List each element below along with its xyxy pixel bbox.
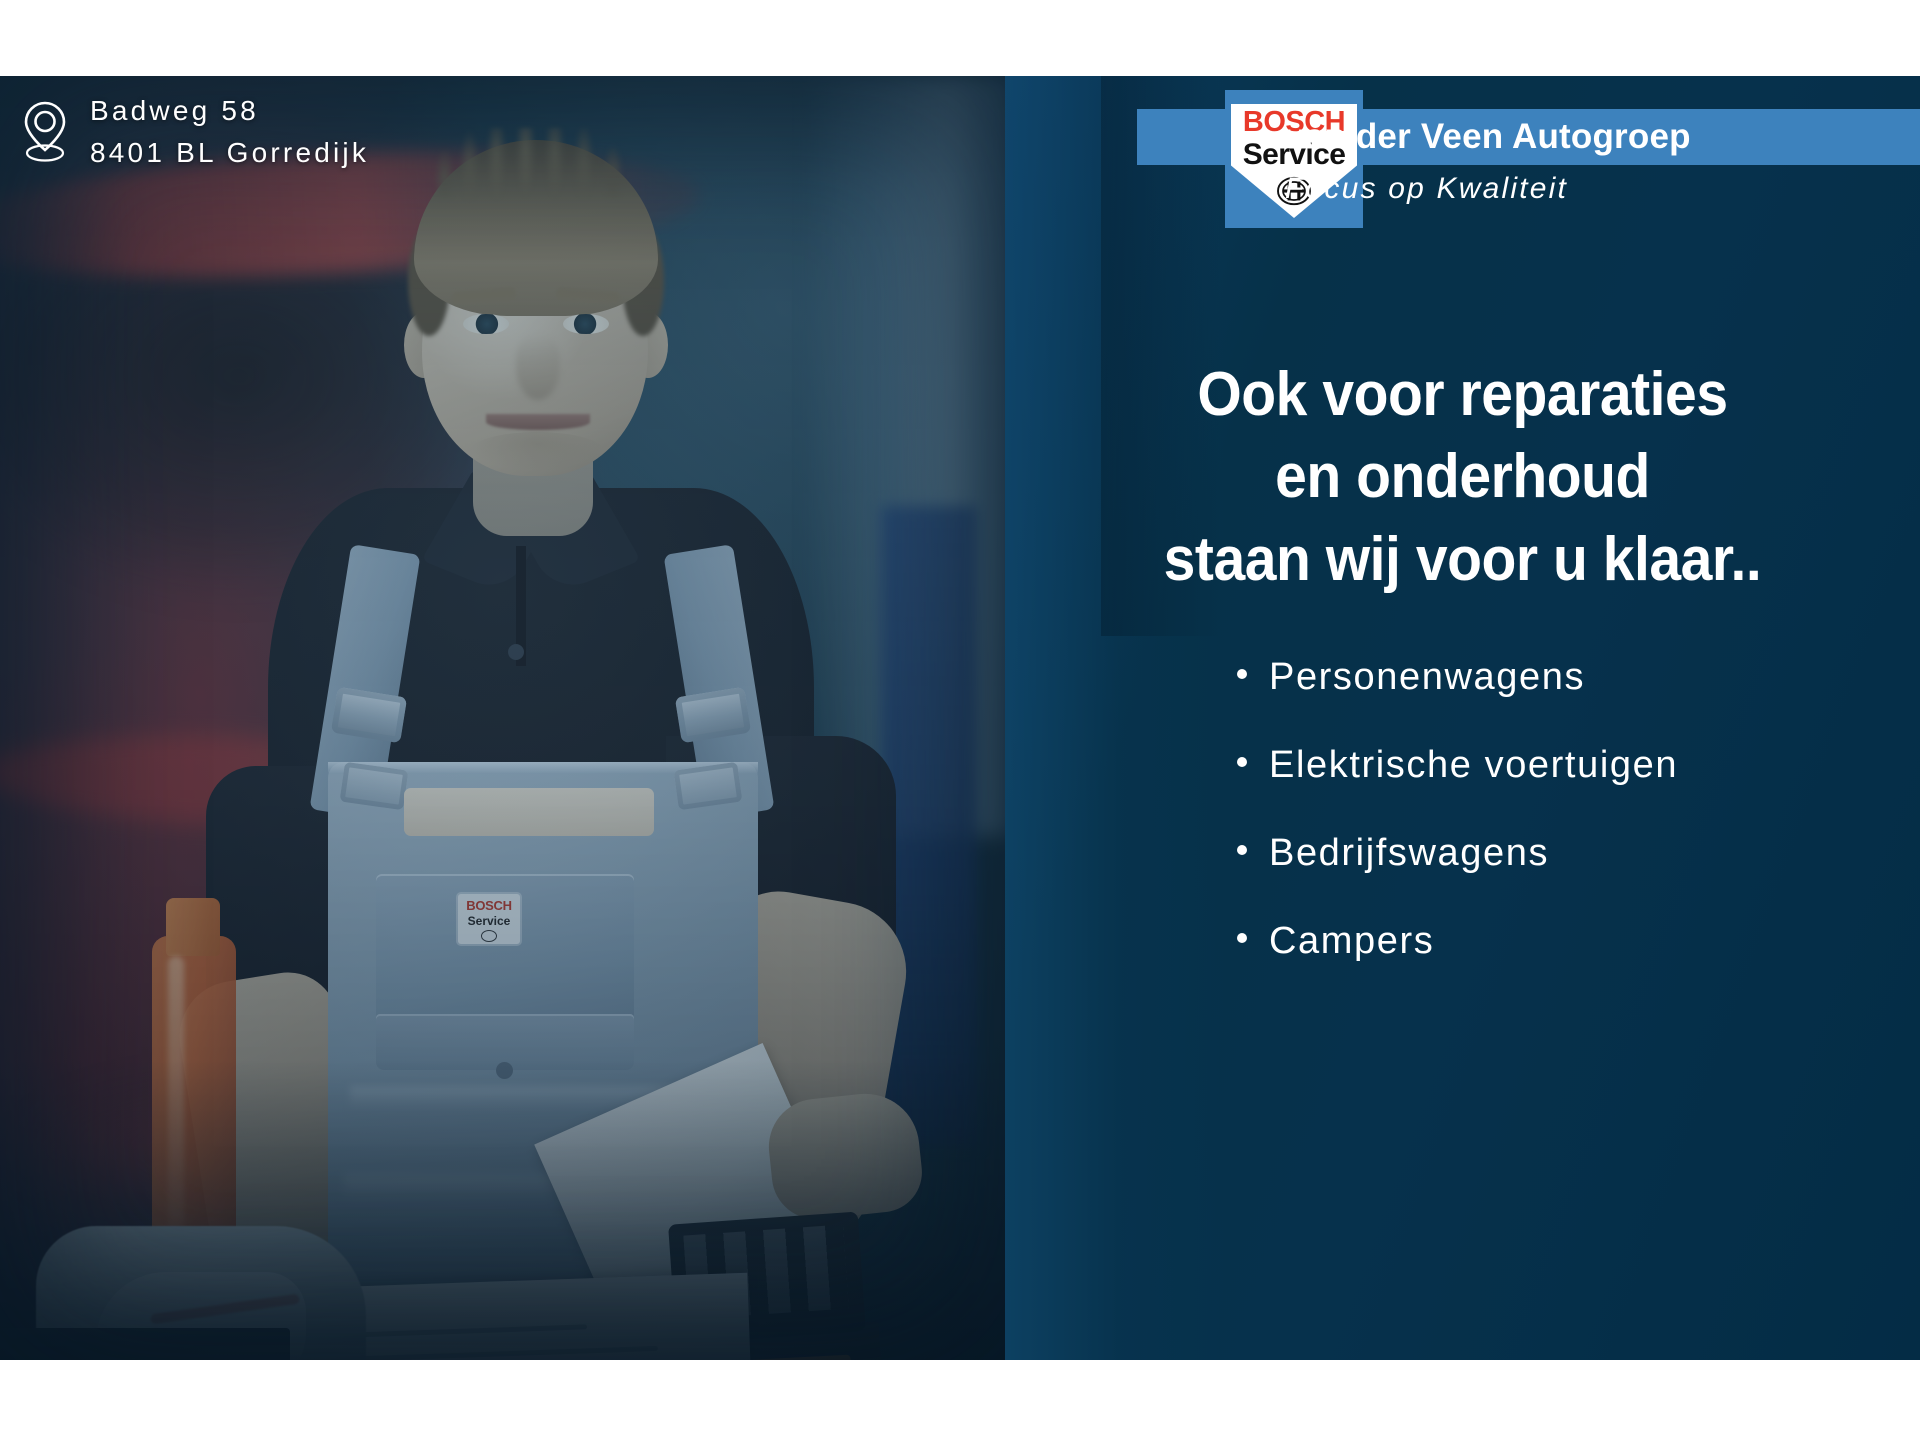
photo-vignette (0, 76, 1005, 1360)
list-item: Elektrische voertuigen (1005, 744, 1920, 787)
info-panel: BOSCH Service van der Veen Autogroep Foc… (1005, 76, 1920, 1360)
list-item: Bedrijfswagens (1005, 832, 1920, 875)
map-pin-icon (22, 101, 68, 163)
brand-header: BOSCH Service van der Veen Autogroep Foc… (1005, 76, 1920, 216)
service-label: Bedrijfswagens (1269, 832, 1549, 875)
advertisement-slide: BOSCH Service (0, 0, 1920, 1440)
mechanic-photo: BOSCH Service (0, 76, 1005, 1360)
list-item: Personenwagens (1005, 656, 1920, 699)
services-list: Personenwagens Elektrische voertuigen Be… (1005, 656, 1920, 1008)
service-label: Campers (1269, 920, 1434, 963)
address-overlay: Badweg 58 8401 BL Gorredijk (22, 90, 369, 174)
address-line-1: Badweg 58 (90, 90, 369, 132)
address-line-2: 8401 BL Gorredijk (90, 132, 369, 174)
service-label: Elektrische voertuigen (1269, 744, 1678, 787)
headline-line-2: en onderhoud (1042, 436, 1884, 518)
bullet-icon (1237, 933, 1247, 943)
bullet-icon (1237, 669, 1247, 679)
bullet-icon (1237, 845, 1247, 855)
address-text: Badweg 58 8401 BL Gorredijk (90, 90, 369, 174)
company-tagline: Focus op Kwaliteit (1285, 172, 1568, 206)
service-label: Personenwagens (1269, 656, 1585, 699)
bullet-icon (1237, 757, 1247, 767)
list-item: Campers (1005, 920, 1920, 963)
company-name: van der Veen Autogroep (1285, 109, 1920, 165)
headline-block: Ook voor reparaties en onderhoud staan w… (1042, 354, 1884, 601)
headline-line-1: Ook voor reparaties (1042, 354, 1884, 436)
headline-line-3: staan wij voor u klaar.. (1042, 519, 1884, 601)
